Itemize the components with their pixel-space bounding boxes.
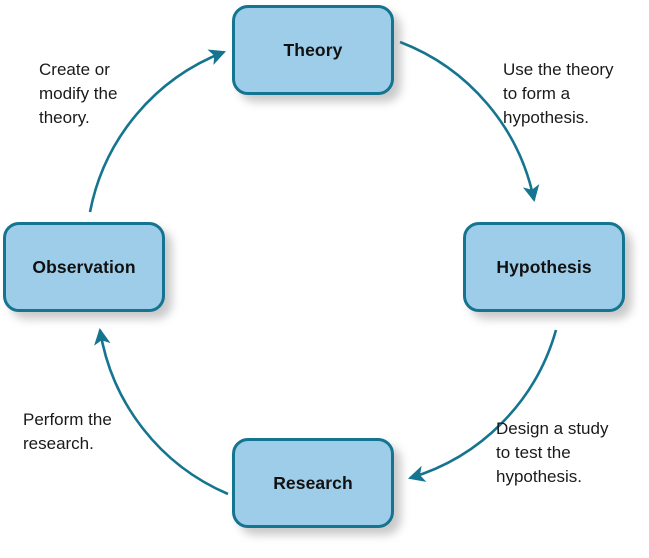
node-theory[interactable]: Theory [232, 5, 394, 95]
node-theory-label: Theory [284, 40, 343, 61]
node-research[interactable]: Research [232, 438, 394, 528]
diagram-canvas: Theory Hypothesis Research Observation C… [0, 0, 649, 558]
caption-observation-to-theory: Create or modify the theory. [39, 58, 174, 130]
caption-research-to-observation: Perform the research. [23, 408, 158, 456]
node-research-label: Research [273, 473, 353, 494]
node-observation[interactable]: Observation [3, 222, 165, 312]
node-hypothesis[interactable]: Hypothesis [463, 222, 625, 312]
node-hypothesis-label: Hypothesis [496, 257, 591, 278]
caption-theory-to-hypothesis: Use the theory to form a hypothesis. [503, 58, 648, 130]
node-observation-label: Observation [32, 257, 135, 278]
caption-hypothesis-to-research: Design a study to test the hypothesis. [496, 417, 641, 489]
